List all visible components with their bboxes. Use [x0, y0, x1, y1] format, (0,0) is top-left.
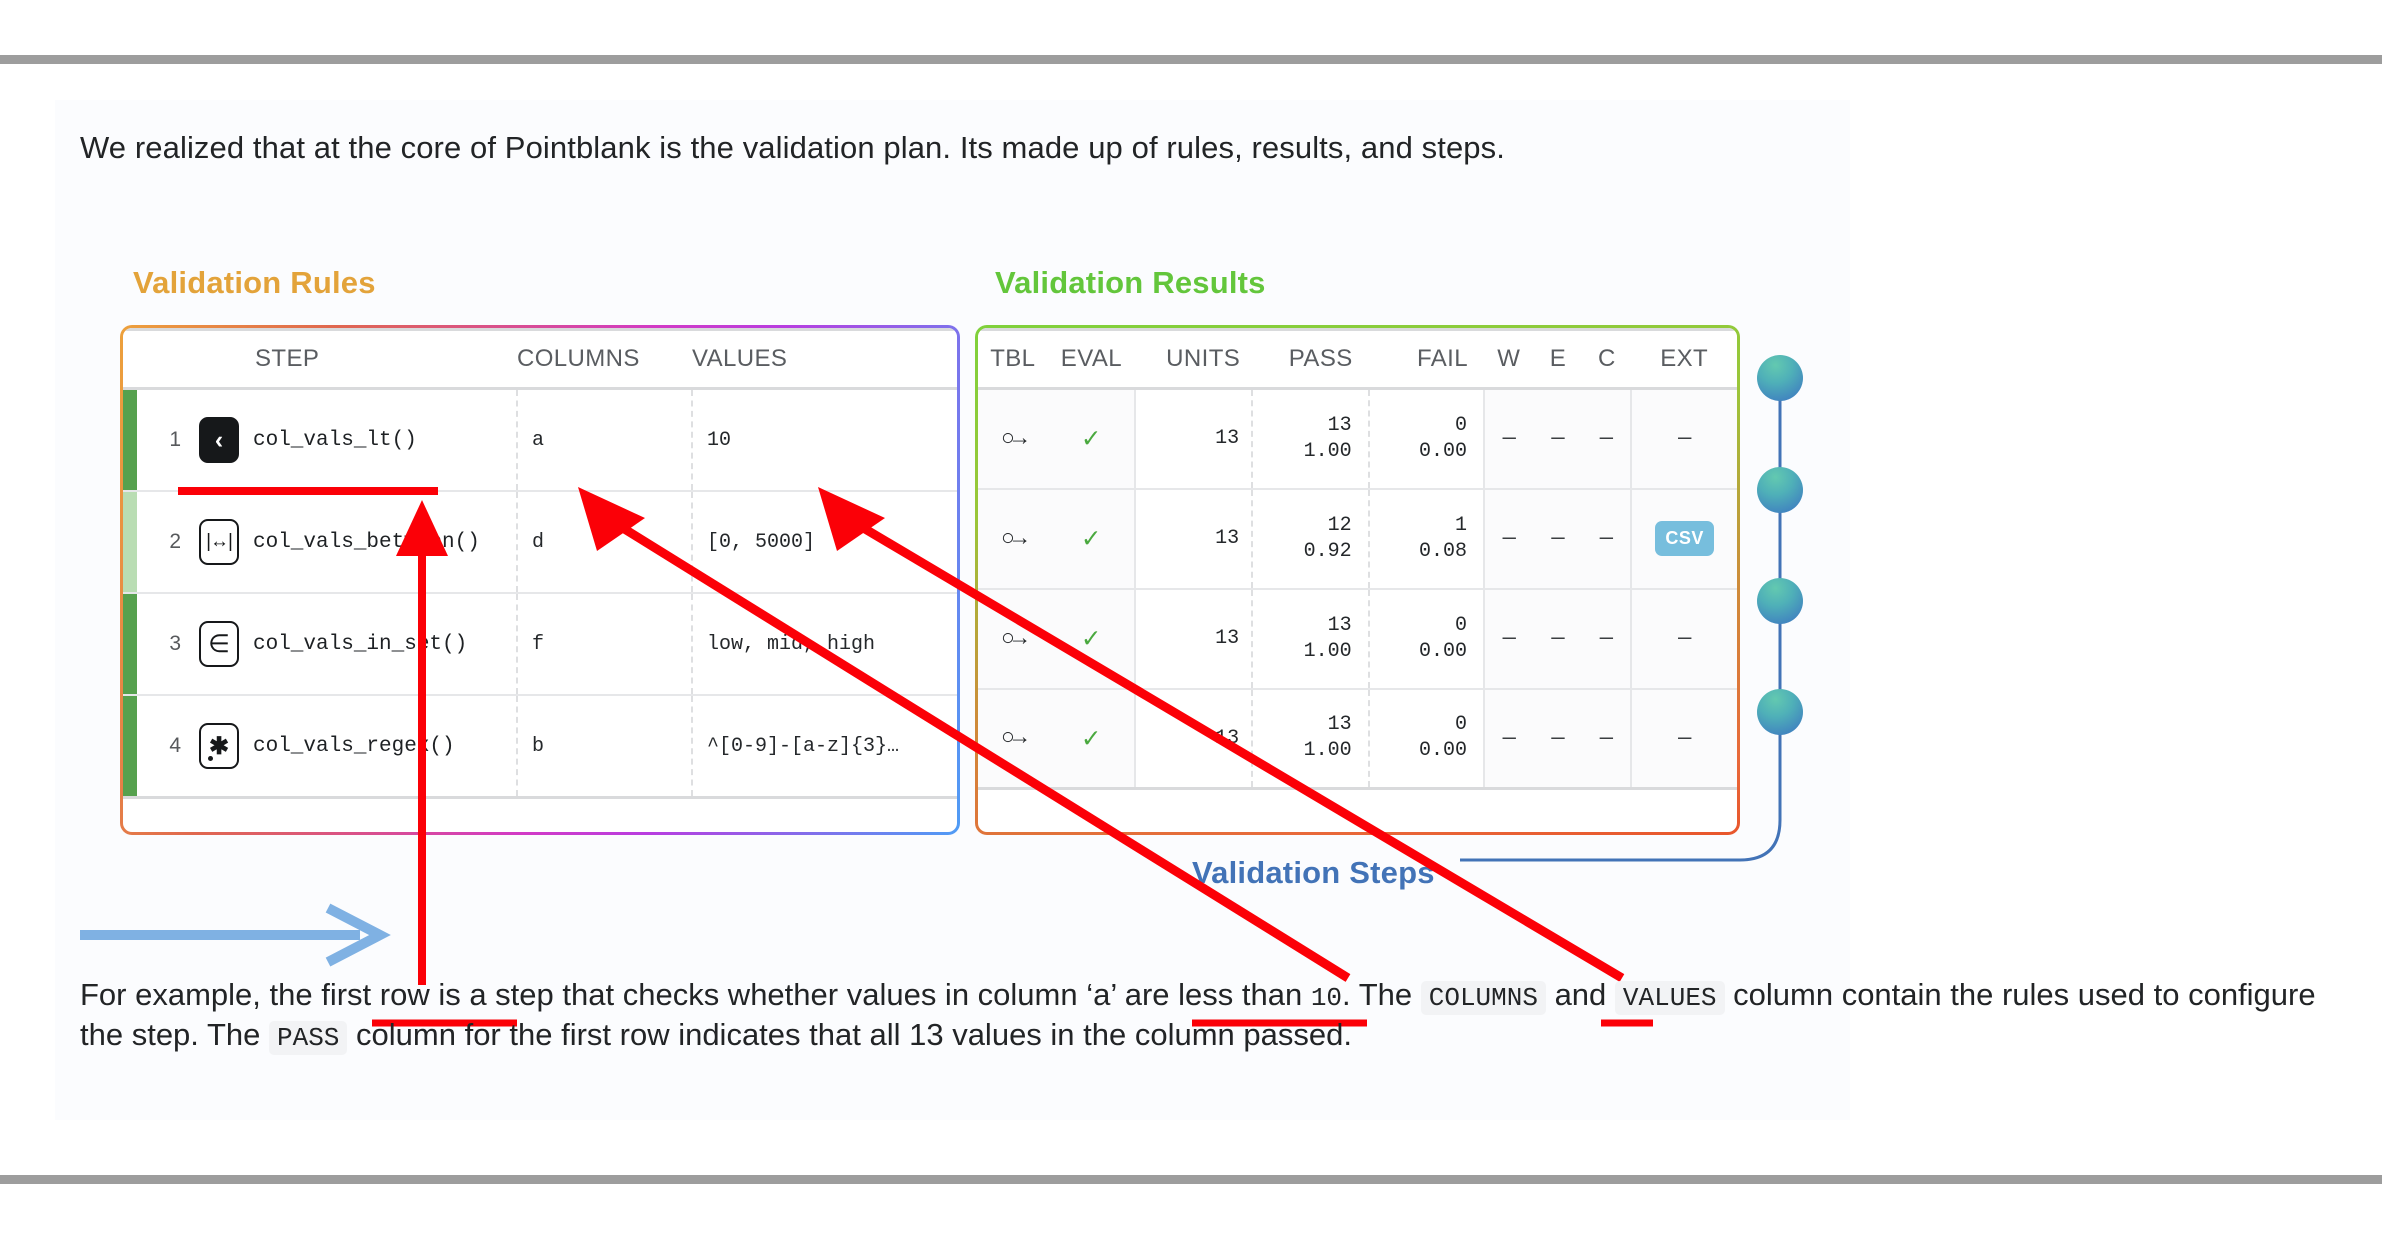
- validation-results-table: TBL EVAL UNITS PASS FAIL W E C EXT ○→✓13…: [978, 328, 1737, 790]
- rule-step-content: ‹col_vals_lt(): [199, 417, 516, 463]
- heading-validation-rules: Validation Rules: [133, 265, 376, 301]
- result-fail-count: 0: [1370, 712, 1467, 738]
- result-tbl-cell: ○→: [978, 389, 1048, 489]
- rule-index-cell: 3: [141, 593, 187, 695]
- rules-table-head: STEP COLUMNS VALUES: [123, 330, 957, 389]
- rules-table-body: 1‹col_vals_lt()a102|↔|col_vals_between()…: [123, 389, 957, 798]
- rule-function-name: col_vals_in_set(): [253, 633, 467, 656]
- para-seg-1: For example, the: [80, 977, 321, 1012]
- rule-index-cell: 1: [141, 389, 187, 492]
- rules-index-header: [141, 330, 187, 389]
- rules-table-row: 1‹col_vals_lt()a10: [123, 389, 957, 492]
- validation-results-table-box: TBL EVAL UNITS PASS FAIL W E C EXT ○→✓13…: [975, 325, 1740, 835]
- rule-step-cell: |↔|col_vals_between(): [187, 491, 517, 593]
- result-fail-cell: 00.00: [1369, 389, 1484, 489]
- result-fail-count: 0: [1370, 613, 1467, 639]
- result-fail-cell: 00.00: [1369, 589, 1484, 689]
- rule-values-cell: low, mid, high: [692, 593, 957, 695]
- e-dash: —: [1551, 726, 1564, 751]
- validation-rules-table: STEP COLUMNS VALUES 1‹col_vals_lt()a102|…: [123, 328, 957, 799]
- less-than-icon-glyph: ‹: [215, 428, 223, 453]
- rules-status-header: [123, 330, 141, 389]
- result-eval-cell: ✓: [1048, 689, 1135, 789]
- rule-values-cell: 10: [692, 389, 957, 492]
- results-header-fail: FAIL: [1369, 330, 1484, 389]
- rule-function-name: col_vals_regex(): [253, 735, 455, 758]
- e-dash: —: [1551, 626, 1564, 651]
- results-header-e: E: [1533, 330, 1582, 389]
- table-arrow-icon: ○→: [1001, 426, 1025, 452]
- c-dash: —: [1600, 526, 1613, 551]
- element-of-icon-glyph: ∈: [208, 629, 230, 659]
- results-header-pass: PASS: [1252, 330, 1368, 389]
- top-divider-bar: [0, 55, 2382, 64]
- result-ext-cell: —: [1631, 589, 1737, 689]
- rules-header-columns: COLUMNS: [517, 330, 692, 389]
- rule-columns-cell: b: [517, 695, 692, 798]
- w-dash: —: [1503, 526, 1516, 551]
- para-code-columns: COLUMNS: [1421, 981, 1546, 1015]
- rule-step-content: ∈col_vals_in_set(): [199, 621, 516, 667]
- result-fail-count: 0: [1370, 413, 1467, 439]
- para-seg-3: are less than: [1116, 977, 1311, 1012]
- result-c-cell: —: [1582, 389, 1631, 489]
- result-pass-cell: 131.00: [1252, 689, 1368, 789]
- validation-rules-table-box: STEP COLUMNS VALUES 1‹col_vals_lt()a102|…: [120, 325, 960, 835]
- para-code-values: VALUES: [1615, 981, 1725, 1015]
- result-units-cell: 13: [1135, 389, 1252, 489]
- rule-step-cell: ‹col_vals_lt(): [187, 389, 517, 492]
- c-dash: —: [1600, 626, 1613, 651]
- ext-dash: —: [1678, 626, 1691, 651]
- result-w-cell: —: [1484, 389, 1533, 489]
- result-w-cell: —: [1484, 689, 1533, 789]
- w-dash: —: [1503, 726, 1516, 751]
- table-arrow-icon: ○→: [1001, 725, 1025, 751]
- result-pass-cell: 131.00: [1252, 589, 1368, 689]
- check-icon: ✓: [1082, 625, 1099, 656]
- regex-dot: [208, 756, 213, 761]
- rule-function-name: col_vals_between(): [253, 531, 480, 554]
- result-fail-fraction: 0.00: [1370, 738, 1467, 764]
- rules-header-values: VALUES: [692, 330, 957, 389]
- less-than-icon: ‹: [199, 417, 239, 463]
- result-pass-count: 12: [1253, 513, 1351, 539]
- check-icon: ✓: [1082, 725, 1099, 756]
- result-pass-fraction: 0.92: [1253, 539, 1351, 565]
- between-range-icon-glyph: |↔|: [206, 531, 232, 553]
- result-eval-cell: ✓: [1048, 589, 1135, 689]
- rule-step-content: |↔|col_vals_between(): [199, 519, 516, 565]
- result-eval-cell: ✓: [1048, 489, 1135, 589]
- result-pass-cell: 120.92: [1252, 489, 1368, 589]
- results-table-row: ○→✓13131.0000.00————: [978, 389, 1737, 489]
- e-dash: —: [1551, 426, 1564, 451]
- rule-values-cell: [0, 5000]: [692, 491, 957, 593]
- regex-asterisk-icon: ✱: [199, 723, 239, 769]
- rule-step-cell: ∈col_vals_in_set(): [187, 593, 517, 695]
- result-pass-cell: 131.00: [1252, 389, 1368, 489]
- rules-header-row: STEP COLUMNS VALUES: [123, 330, 957, 389]
- rules-table-row: 2|↔|col_vals_between()d[0, 5000]: [123, 491, 957, 593]
- results-table-row: ○→✓13131.0000.00————: [978, 689, 1737, 789]
- element-of-icon: ∈: [199, 621, 239, 667]
- rule-values-cell: ^[0-9]-[a-z]{3}…: [692, 695, 957, 798]
- rule-index-cell: 4: [141, 695, 187, 798]
- result-ext-cell: —: [1631, 389, 1737, 489]
- result-units-cell: 13: [1135, 589, 1252, 689]
- rule-function-name: col_vals_lt(): [253, 429, 417, 452]
- result-units-cell: 13: [1135, 689, 1252, 789]
- check-icon: ✓: [1082, 425, 1099, 456]
- result-pass-count: 13: [1253, 712, 1351, 738]
- result-tbl-cell: ○→: [978, 589, 1048, 689]
- rule-step-cell: ✱col_vals_regex(): [187, 695, 517, 798]
- results-table-head: TBL EVAL UNITS PASS FAIL W E C EXT: [978, 330, 1737, 389]
- e-dash: —: [1551, 526, 1564, 551]
- results-table-row: ○→✓13120.9210.08———CSV: [978, 489, 1737, 589]
- result-fail-cell: 10.08: [1369, 489, 1484, 589]
- rule-columns-cell: d: [517, 491, 692, 593]
- heading-validation-steps: Validation Steps: [1192, 855, 1435, 891]
- csv-extract-badge[interactable]: CSV: [1655, 521, 1714, 556]
- result-w-cell: —: [1484, 489, 1533, 589]
- rule-status-bar: [123, 594, 137, 694]
- results-header-ext: EXT: [1631, 330, 1737, 389]
- result-e-cell: —: [1533, 389, 1582, 489]
- result-pass-count: 13: [1253, 413, 1351, 439]
- rule-status-cell: [123, 389, 141, 492]
- results-header-tbl: TBL: [978, 330, 1048, 389]
- table-arrow-icon: ○→: [1001, 526, 1025, 552]
- check-icon: ✓: [1082, 525, 1099, 556]
- result-e-cell: —: [1533, 689, 1582, 789]
- result-pass-fraction: 1.00: [1253, 738, 1351, 764]
- ext-dash: —: [1678, 426, 1691, 451]
- rules-table-row: 3∈col_vals_in_set()flow, mid, high: [123, 593, 957, 695]
- para-seg-2: is a step that checks whether values in: [430, 977, 978, 1012]
- para-code-pass: PASS: [269, 1021, 347, 1055]
- heading-validation-results: Validation Results: [995, 265, 1266, 301]
- rule-index-cell: 2: [141, 491, 187, 593]
- result-e-cell: —: [1533, 589, 1582, 689]
- rules-header-step: STEP: [187, 330, 517, 389]
- result-tbl-cell: ○→: [978, 689, 1048, 789]
- result-tbl-cell: ○→: [978, 489, 1048, 589]
- result-fail-fraction: 0.00: [1370, 639, 1467, 665]
- results-header-eval: EVAL: [1048, 330, 1135, 389]
- rule-step-content: ✱col_vals_regex(): [199, 723, 516, 769]
- results-table-row: ○→✓13131.0000.00————: [978, 589, 1737, 689]
- results-header-w: W: [1484, 330, 1533, 389]
- explanatory-paragraph: For example, the first row is a step tha…: [80, 975, 2330, 1055]
- c-dash: —: [1600, 426, 1613, 451]
- result-eval-cell: ✓: [1048, 389, 1135, 489]
- table-arrow-icon: ○→: [1001, 626, 1025, 652]
- between-range-icon: |↔|: [199, 519, 239, 565]
- result-fail-count: 1: [1370, 513, 1467, 539]
- result-ext-cell: —: [1631, 689, 1737, 789]
- w-dash: —: [1503, 426, 1516, 451]
- result-pass-count: 13: [1253, 613, 1351, 639]
- result-pass-fraction: 1.00: [1253, 439, 1351, 465]
- result-c-cell: —: [1582, 689, 1631, 789]
- rules-table-row: 4✱col_vals_regex()b^[0-9]-[a-z]{3}…: [123, 695, 957, 798]
- results-header-row: TBL EVAL UNITS PASS FAIL W E C EXT: [978, 330, 1737, 389]
- w-dash: —: [1503, 626, 1516, 651]
- intro-text: We realized that at the core of Pointbla…: [80, 130, 2180, 166]
- validation-results-table-inner: TBL EVAL UNITS PASS FAIL W E C EXT ○→✓13…: [978, 328, 1737, 832]
- para-code-ten: 10: [1311, 983, 1342, 1013]
- result-c-cell: —: [1582, 489, 1631, 589]
- result-pass-fraction: 1.00: [1253, 639, 1351, 665]
- ext-dash: —: [1678, 726, 1691, 751]
- results-table-body: ○→✓13131.0000.00————○→✓13120.9210.08———C…: [978, 389, 1737, 789]
- para-seg-7: column for the first row indicates that …: [347, 1017, 1352, 1052]
- result-fail-cell: 00.00: [1369, 689, 1484, 789]
- rule-status-bar: [123, 696, 137, 796]
- rule-columns-cell: f: [517, 593, 692, 695]
- result-fail-fraction: 0.00: [1370, 439, 1467, 465]
- bottom-divider-bar: [0, 1175, 2382, 1184]
- slide-page: We realized that at the core of Pointbla…: [0, 0, 2382, 1242]
- result-e-cell: —: [1533, 489, 1582, 589]
- para-seg-4: . The: [1342, 977, 1421, 1012]
- para-seg-first-row: first row: [321, 977, 430, 1012]
- results-header-c: C: [1582, 330, 1631, 389]
- rule-status-cell: [123, 593, 141, 695]
- result-c-cell: —: [1582, 589, 1631, 689]
- result-fail-fraction: 0.08: [1370, 539, 1467, 565]
- para-seg-5: and: [1546, 977, 1615, 1012]
- rule-status-cell: [123, 695, 141, 798]
- c-dash: —: [1600, 726, 1613, 751]
- results-header-units: UNITS: [1135, 330, 1252, 389]
- rule-columns-cell: a: [517, 389, 692, 492]
- result-units-cell: 13: [1135, 489, 1252, 589]
- result-w-cell: —: [1484, 589, 1533, 689]
- validation-rules-table-inner: STEP COLUMNS VALUES 1‹col_vals_lt()a102|…: [123, 328, 957, 832]
- rule-status-cell: [123, 491, 141, 593]
- rule-status-bar: [123, 390, 137, 490]
- rule-status-bar: [123, 492, 137, 592]
- para-seg-column-a: column ‘a’: [978, 977, 1116, 1012]
- result-ext-cell: CSV: [1631, 489, 1737, 589]
